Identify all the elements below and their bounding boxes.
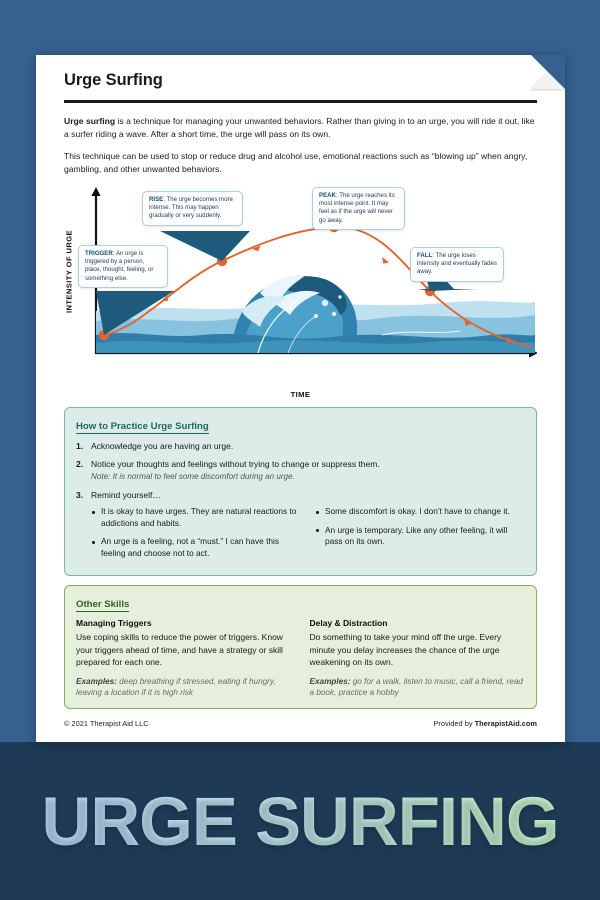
callout-trigger: TRIGGER: An urge is triggered by a perso…	[78, 245, 168, 288]
reminder-bullets-left: It is okay to have urges. They are natur…	[91, 506, 301, 566]
step-number: 1.	[76, 440, 91, 453]
provided-by-prefix: Provided by	[433, 719, 474, 728]
callout-rise-label: RISE	[149, 196, 163, 203]
page-footer: © 2021 Therapist Aid LLC Provided by The…	[64, 719, 537, 728]
page-title: Urge Surfing	[64, 55, 537, 90]
skill-body: Do something to take your mind off the u…	[310, 631, 526, 668]
practice-step: 3. Remind yourself…	[76, 489, 525, 502]
list-item: It is okay to have urges. They are natur…	[91, 506, 301, 529]
practice-step: 2. Notice your thoughts and feelings wit…	[76, 458, 525, 484]
intro-rest: is a technique for managing your unwante…	[64, 116, 535, 139]
bottom-banner: URGE SURFING	[0, 742, 600, 900]
skill-examples: Examples: deep breathing if stressed, ea…	[76, 676, 292, 699]
reminder-bullets-right: Some discomfort is okay. I don’t have to…	[315, 506, 525, 566]
other-skills-columns: Managing Triggers Use coping skills to r…	[76, 618, 525, 698]
callout-peak: PEAK: The urge reaches its most intense …	[312, 187, 405, 230]
skill-examples-label: Examples:	[310, 677, 351, 686]
step-text: Acknowledge you are having an urge.	[91, 440, 233, 453]
skill-column-managing-triggers: Managing Triggers Use coping skills to r…	[76, 618, 292, 698]
practice-step: 1. Acknowledge you are having an urge.	[76, 440, 525, 453]
skill-title: Managing Triggers	[76, 618, 292, 628]
skill-body: Use coping skills to reduce the power of…	[76, 631, 292, 668]
step-text: Remind yourself…	[91, 489, 161, 502]
other-skills-heading: Other Skills	[76, 599, 129, 612]
step-text-wrap: Notice your thoughts and feelings withou…	[91, 458, 380, 484]
step-number: 2.	[76, 458, 91, 484]
how-to-practice-heading: How to Practice Urge Surfing	[76, 421, 209, 434]
callout-rise: RISE: The urge becomes more intense. Thi…	[142, 191, 243, 226]
practice-step-list: 1. Acknowledge you are having an urge. 2…	[76, 440, 525, 501]
callout-peak-label: PEAK	[319, 192, 336, 199]
other-skills-section: Other Skills Managing Triggers Use copin…	[64, 585, 537, 708]
step-number: 3.	[76, 489, 91, 502]
skill-examples: Examples: go for a walk, listen to music…	[310, 676, 526, 699]
chart-y-axis-label: INTENSITY OF URGE	[62, 211, 76, 331]
skill-examples-label: Examples:	[76, 677, 117, 686]
banner-title: URGE SURFING	[41, 782, 558, 861]
step-text: Notice your thoughts and feelings withou…	[91, 459, 380, 469]
skill-column-delay-distraction: Delay & Distraction Do something to take…	[310, 618, 526, 698]
worksheet-page: Urge Surfing Urge surfing is a technique…	[36, 55, 565, 742]
copyright-text: © 2021 Therapist Aid LLC	[64, 719, 149, 728]
callout-fall: FALL: The urge loses intensity and event…	[410, 247, 504, 282]
intro-paragraph: Urge surfing is a technique for managing…	[64, 115, 537, 141]
urge-surfing-chart: INTENSITY OF URGE TIME	[64, 185, 537, 397]
how-to-practice-section: How to Practice Urge Surfing 1. Acknowle…	[64, 407, 537, 576]
list-item: An urge is a feeling, not a “must.” I ca…	[91, 536, 301, 559]
page-corner-cut-icon	[531, 55, 565, 89]
list-item: An urge is temporary. Like any other fee…	[315, 525, 525, 548]
paragraph-2: This technique can be used to stop or re…	[64, 150, 537, 176]
title-divider	[64, 100, 537, 103]
skill-title: Delay & Distraction	[310, 618, 526, 628]
step-note: Note: It is normal to feel some discomfo…	[91, 471, 380, 484]
provided-by: Provided by TherapistAid.com	[433, 719, 537, 728]
list-item: Some discomfort is okay. I don’t have to…	[315, 506, 525, 518]
callout-trigger-label: TRIGGER	[85, 250, 113, 257]
chart-x-axis-label: TIME	[64, 390, 537, 399]
provided-by-brand[interactable]: TherapistAid.com	[475, 719, 537, 728]
reminder-bullets: It is okay to have urges. They are natur…	[91, 506, 525, 566]
callout-fall-label: FALL	[417, 252, 432, 259]
intro-lead: Urge surfing	[64, 116, 115, 126]
